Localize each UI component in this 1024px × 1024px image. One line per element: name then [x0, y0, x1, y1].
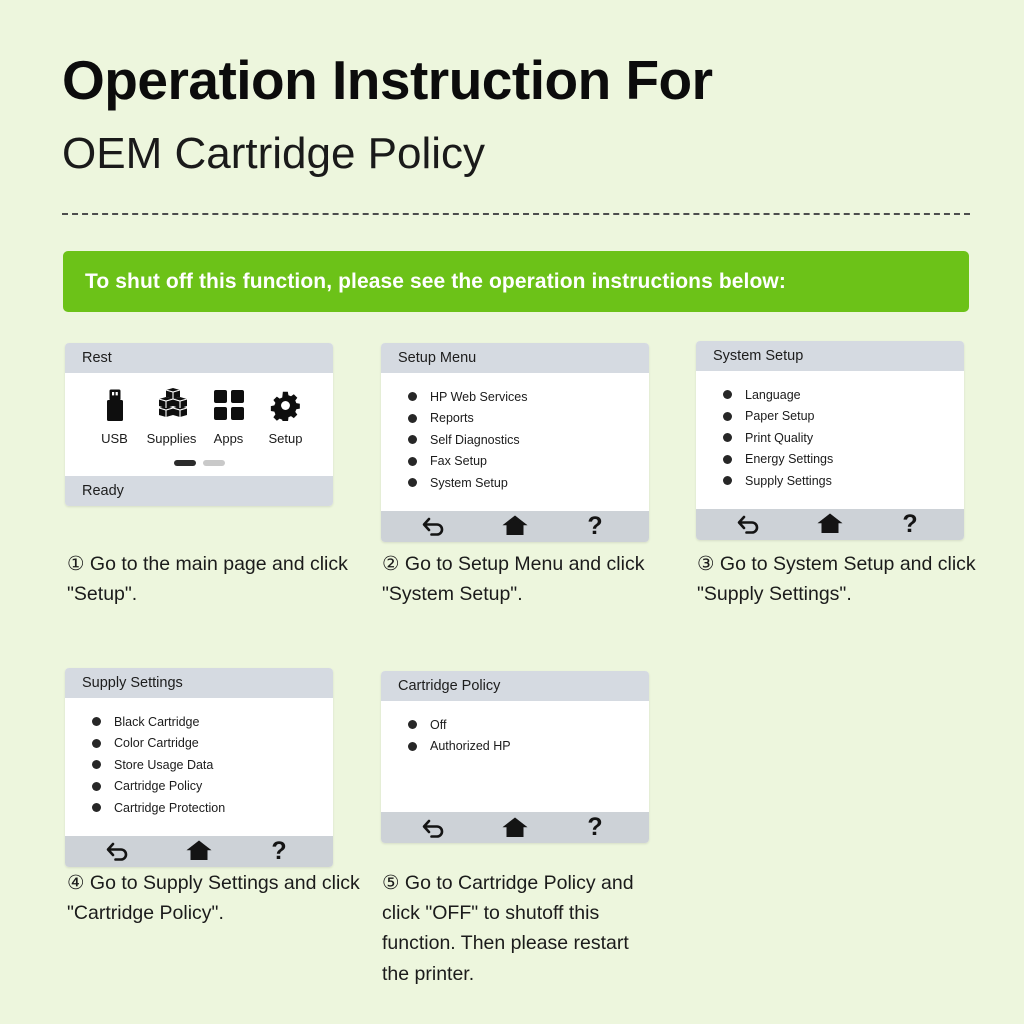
usb-drive-icon: [103, 387, 127, 423]
page-subtitle: OEM Cartridge Policy: [62, 128, 982, 181]
status-text: Ready: [82, 483, 124, 499]
bullet-icon: [408, 435, 417, 444]
help-icon[interactable]: ?: [571, 815, 619, 840]
bullet-icon: [92, 803, 101, 812]
help-question-mark: ?: [587, 815, 602, 840]
home-tile-label: Apps: [214, 431, 244, 446]
caption-text: ④ Go to Supply Settings and click "Cartr…: [67, 872, 360, 924]
caption-step-1: ① Go to the main page and click "Setup".: [67, 549, 367, 609]
menu-item[interactable]: HP Web Services: [381, 386, 649, 408]
menu-list: HP Web Services Reports Self Diagnostics…: [381, 373, 649, 511]
help-question-mark: ?: [587, 514, 602, 539]
grid-squares-icon: [214, 387, 244, 423]
panel-header-label: Setup Menu: [398, 350, 476, 366]
panel-status-bar: Ready: [65, 476, 333, 506]
bullet-icon: [408, 742, 417, 751]
panel-header-label: Supply Settings: [82, 675, 183, 691]
panel-cartridge-policy: Cartridge Policy Off Authorized HP: [381, 671, 649, 843]
banner-text: To shut off this function, please see th…: [85, 270, 786, 294]
home-tile-label: Supplies: [147, 431, 197, 446]
bullet-icon: [723, 433, 732, 442]
menu-item-label: Paper Setup: [745, 409, 815, 423]
panel-header-label: Rest: [82, 350, 112, 366]
panel-system-setup: System Setup Language Paper Setup Print …: [696, 341, 964, 540]
instruction-banner: To shut off this function, please see th…: [63, 251, 969, 312]
menu-item-label: Off: [430, 718, 446, 732]
bullet-icon: [408, 414, 417, 423]
bullet-icon: [408, 392, 417, 401]
home-tile-label: USB: [101, 431, 128, 446]
help-icon[interactable]: ?: [255, 839, 303, 864]
panel-body: USB: [65, 373, 333, 466]
page-dot[interactable]: [203, 460, 225, 466]
help-question-mark: ?: [902, 512, 917, 537]
panel-header: Rest: [65, 343, 333, 373]
panel-supply-settings: Supply Settings Black Cartridge Color Ca…: [65, 668, 333, 867]
gear-icon: [270, 387, 301, 423]
panel-header: Supply Settings: [65, 668, 333, 698]
home-tile-usb[interactable]: USB: [87, 387, 142, 446]
caption-step-3: ③ Go to System Setup and click "Supply S…: [697, 549, 997, 609]
supply-boxes-icon: [156, 387, 188, 423]
menu-list: Black Cartridge Color Cartridge Store Us…: [65, 698, 333, 836]
panel-home-screen: Rest USB: [65, 343, 333, 506]
back-arrow-icon[interactable]: [411, 516, 459, 536]
page-header: Operation Instruction For OEM Cartridge …: [62, 52, 982, 181]
page-indicator-dots[interactable]: [65, 460, 333, 466]
home-tile-label: Setup: [269, 431, 303, 446]
home-tile-setup[interactable]: Setup: [258, 387, 313, 446]
menu-item[interactable]: Cartridge Protection: [65, 797, 333, 819]
menu-item-label: Color Cartridge: [114, 736, 199, 750]
menu-item[interactable]: Print Quality: [696, 427, 964, 449]
page-dot-active[interactable]: [174, 460, 196, 466]
bullet-icon: [723, 455, 732, 464]
panel-nav-bar: ?: [381, 511, 649, 542]
bullet-icon: [723, 476, 732, 485]
home-icon-row: USB: [65, 373, 333, 446]
menu-item-label: Supply Settings: [745, 474, 832, 488]
back-arrow-icon[interactable]: [726, 514, 774, 534]
bullet-icon: [723, 390, 732, 399]
menu-item[interactable]: Off: [381, 714, 649, 736]
menu-item-label: Cartridge Policy: [114, 779, 202, 793]
caption-text: ② Go to Setup Menu and click "System Set…: [382, 553, 644, 605]
bullet-icon: [723, 412, 732, 421]
panel-body: Language Paper Setup Print Quality Energ…: [696, 371, 964, 509]
menu-item-label: Energy Settings: [745, 452, 833, 466]
caption-text: ⑤ Go to Cartridge Policy and click "OFF"…: [382, 872, 634, 985]
panel-setup-menu: Setup Menu HP Web Services Reports Self …: [381, 343, 649, 542]
panel-nav-bar: ?: [65, 836, 333, 867]
page-title: Operation Instruction For: [62, 52, 982, 110]
menu-item-label: Print Quality: [745, 431, 813, 445]
caption-text: ③ Go to System Setup and click "Supply S…: [697, 553, 976, 605]
bullet-icon: [92, 739, 101, 748]
home-tile-apps[interactable]: Apps: [201, 387, 256, 446]
menu-item-label: System Setup: [430, 476, 508, 490]
panel-header: System Setup: [696, 341, 964, 371]
bullet-icon: [92, 717, 101, 726]
bullet-icon: [408, 478, 417, 487]
menu-item[interactable]: Energy Settings: [696, 449, 964, 471]
panel-header-label: System Setup: [713, 348, 803, 364]
bullet-icon: [408, 720, 417, 729]
caption-step-4: ④ Go to Supply Settings and click "Cartr…: [67, 868, 377, 928]
dashed-divider: [62, 213, 970, 215]
home-icon[interactable]: [806, 513, 854, 535]
panel-body: Off Authorized HP: [381, 701, 649, 812]
menu-item-label: HP Web Services: [430, 390, 528, 404]
home-icon[interactable]: [491, 817, 539, 839]
caption-step-5: ⑤ Go to Cartridge Policy and click "OFF"…: [382, 868, 660, 989]
menu-item[interactable]: Fax Setup: [381, 451, 649, 473]
panel-nav-bar: ?: [381, 812, 649, 843]
menu-item[interactable]: Language: [696, 384, 964, 406]
menu-item[interactable]: Cartridge Policy: [65, 776, 333, 798]
menu-item[interactable]: Black Cartridge: [65, 711, 333, 733]
menu-list: Off Authorized HP: [381, 701, 649, 812]
menu-item-label: Fax Setup: [430, 454, 487, 468]
menu-item-label: Language: [745, 388, 801, 402]
caption-step-2: ② Go to Setup Menu and click "System Set…: [382, 549, 682, 609]
home-icon[interactable]: [491, 515, 539, 537]
menu-item-label: Authorized HP: [430, 739, 511, 753]
menu-item-label: Cartridge Protection: [114, 801, 225, 815]
bullet-icon: [408, 457, 417, 466]
panel-body: HP Web Services Reports Self Diagnostics…: [381, 373, 649, 511]
menu-item[interactable]: Supply Settings: [696, 470, 964, 492]
bullet-icon: [92, 760, 101, 769]
menu-item[interactable]: System Setup: [381, 472, 649, 494]
bullet-icon: [92, 782, 101, 791]
menu-item-label: Store Usage Data: [114, 758, 213, 772]
menu-item[interactable]: Store Usage Data: [65, 754, 333, 776]
menu-item[interactable]: Self Diagnostics: [381, 429, 649, 451]
panel-header: Setup Menu: [381, 343, 649, 373]
back-arrow-icon[interactable]: [95, 841, 143, 861]
menu-item[interactable]: Paper Setup: [696, 406, 964, 428]
menu-item[interactable]: Reports: [381, 408, 649, 430]
menu-item-label: Self Diagnostics: [430, 433, 520, 447]
help-question-mark: ?: [271, 839, 286, 864]
home-tile-supplies[interactable]: Supplies: [144, 387, 199, 446]
menu-item-label: Black Cartridge: [114, 715, 199, 729]
home-icon[interactable]: [175, 840, 223, 862]
panel-body: Black Cartridge Color Cartridge Store Us…: [65, 698, 333, 836]
instruction-sheet: Operation Instruction For OEM Cartridge …: [0, 0, 1024, 1024]
panel-nav-bar: ?: [696, 509, 964, 540]
panel-header-label: Cartridge Policy: [398, 678, 500, 694]
caption-text: ① Go to the main page and click "Setup".: [67, 553, 348, 605]
back-arrow-icon[interactable]: [411, 818, 459, 838]
panel-header: Cartridge Policy: [381, 671, 649, 701]
menu-item-label: Reports: [430, 411, 474, 425]
menu-item[interactable]: Authorized HP: [381, 736, 649, 758]
menu-list: Language Paper Setup Print Quality Energ…: [696, 371, 964, 509]
help-icon[interactable]: ?: [886, 512, 934, 537]
menu-item[interactable]: Color Cartridge: [65, 733, 333, 755]
help-icon[interactable]: ?: [571, 514, 619, 539]
